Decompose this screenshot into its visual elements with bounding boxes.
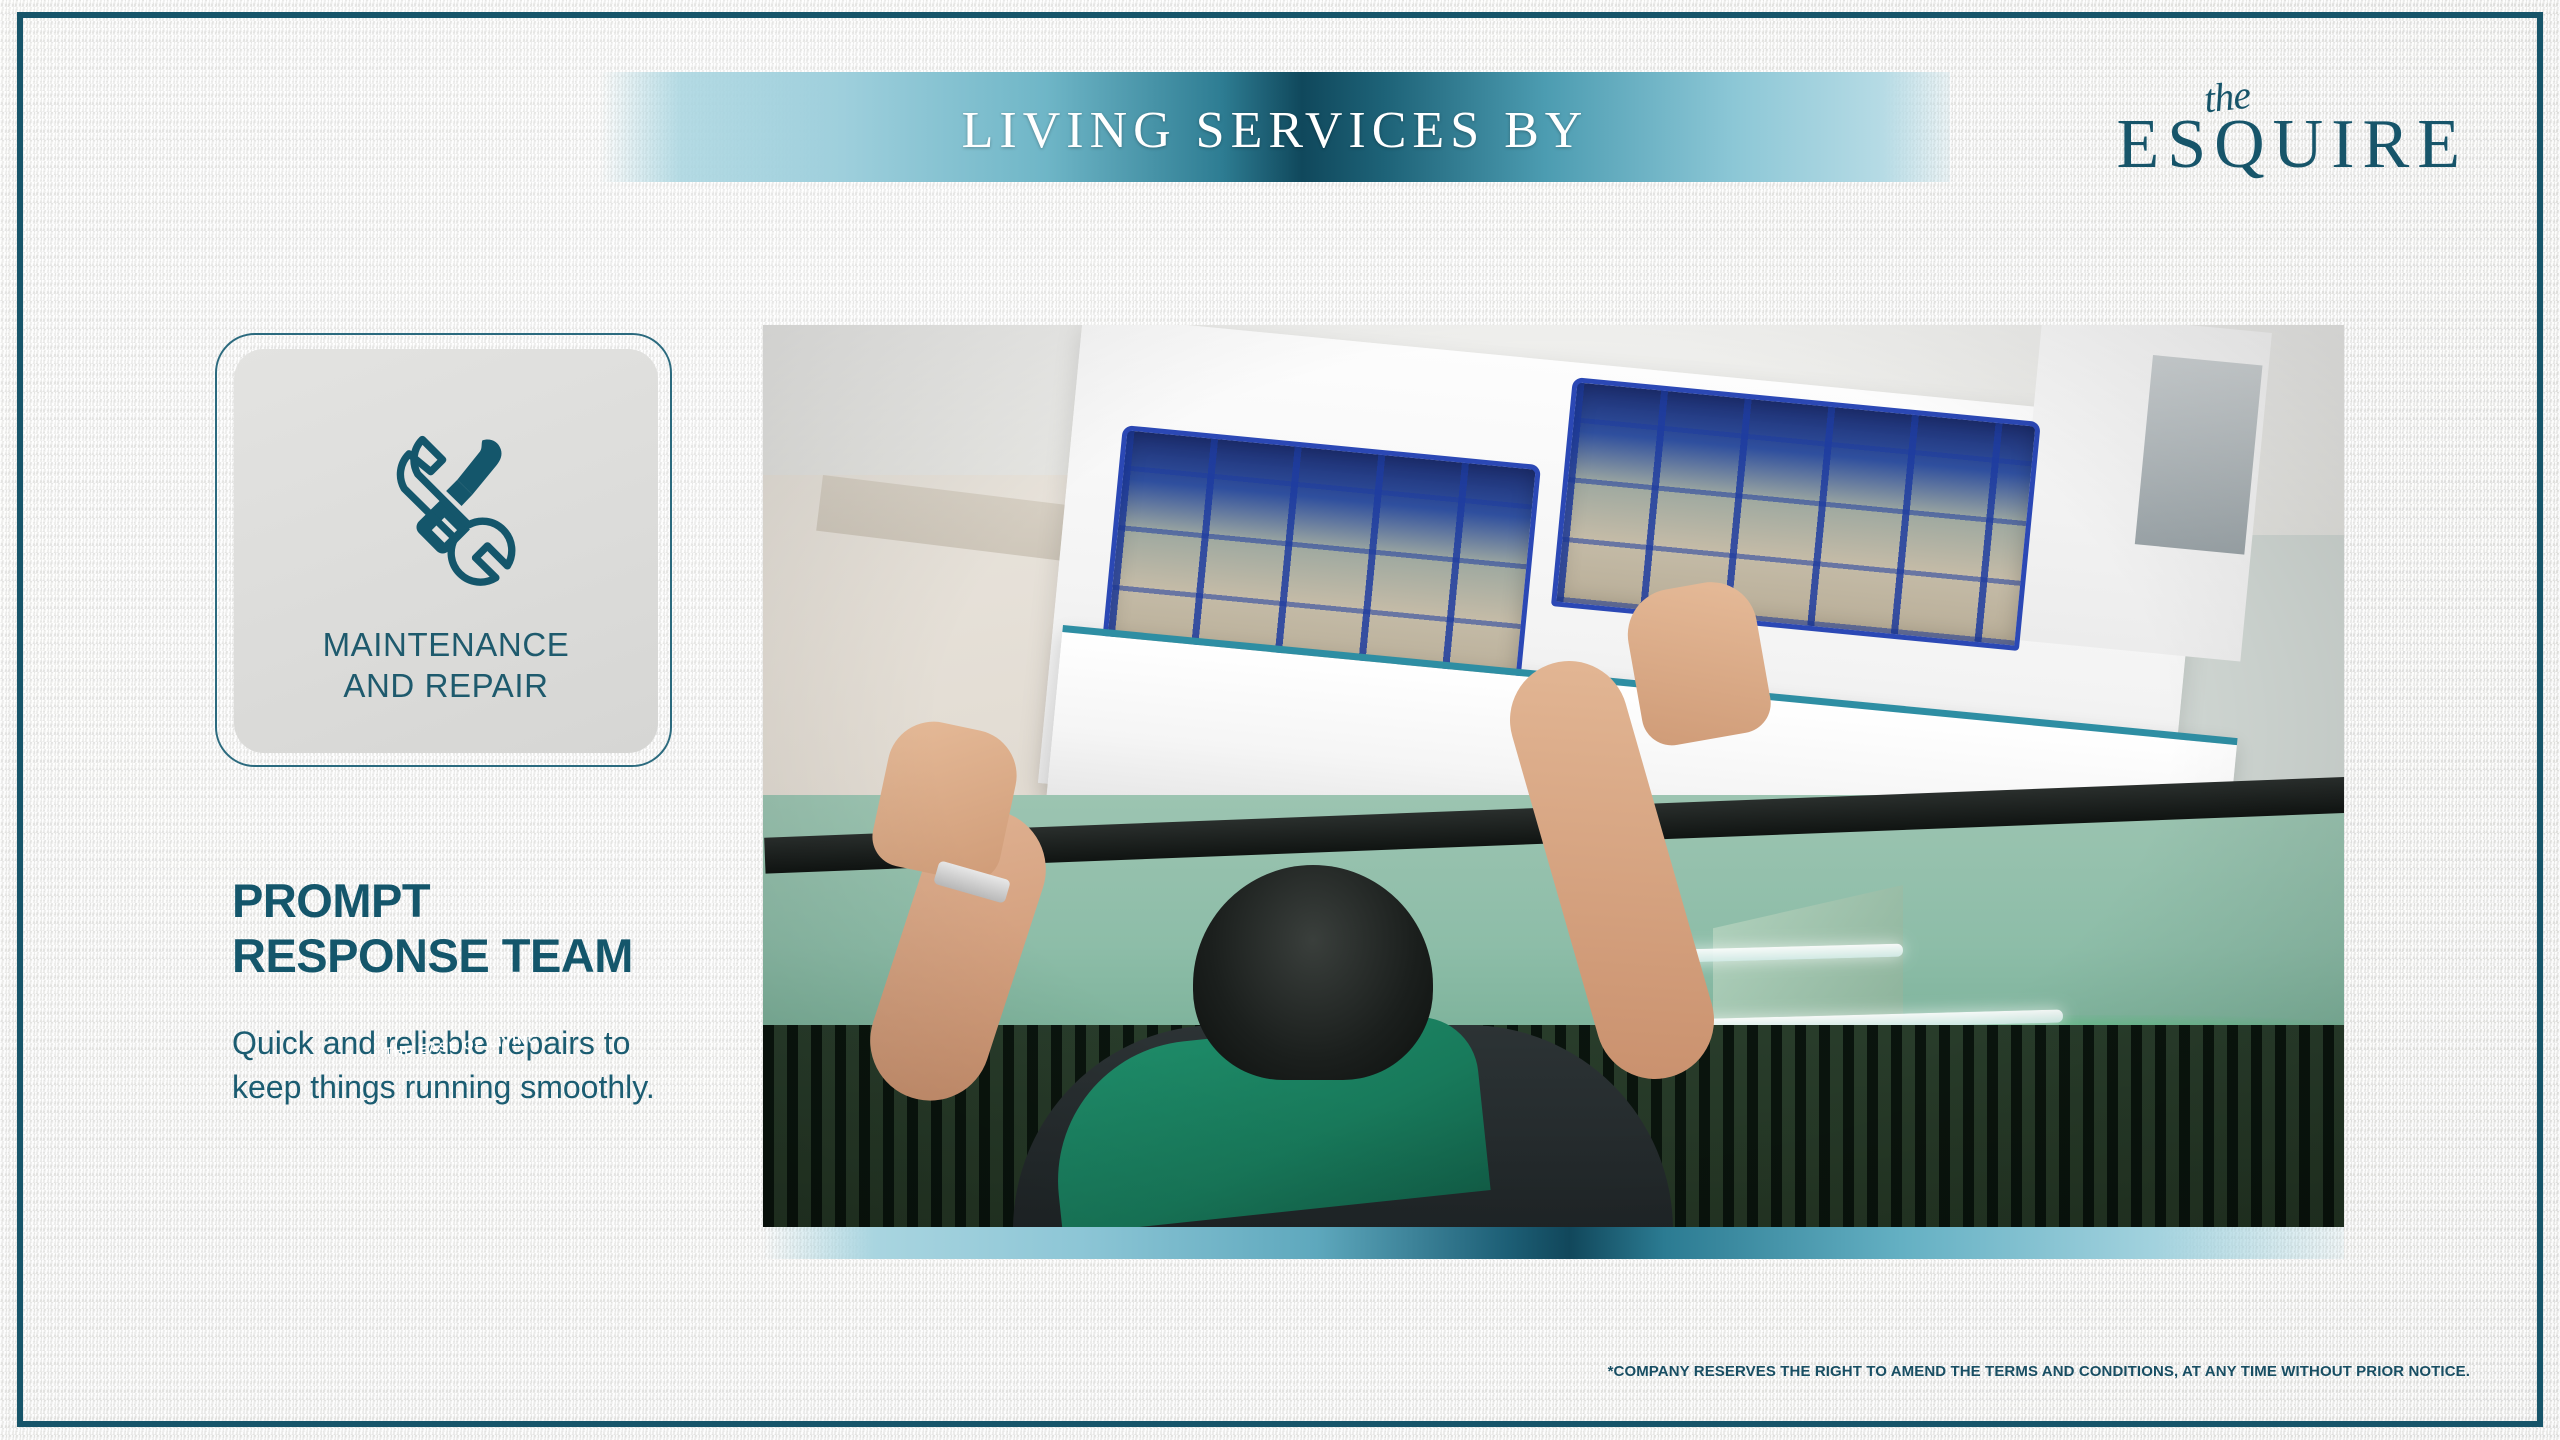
headline: PROMPT RESPONSE TEAM	[232, 874, 792, 983]
service-card-label-line1: MAINTENANCE	[323, 624, 570, 665]
service-photo	[763, 325, 2344, 1227]
headline-line1: PROMPT	[232, 874, 792, 929]
headline-line2: RESPONSE TEAM	[232, 929, 792, 984]
body-copy: Quick and reliable repairs to keep thing…	[232, 1021, 672, 1109]
bottom-accent-bar	[763, 1227, 2344, 1259]
footer-disclaimer: *COMPANY RESERVES THE RIGHT TO AMEND THE…	[1608, 1363, 2470, 1380]
service-card-label-line2: AND REPAIR	[323, 665, 570, 706]
logo-script-word: the	[2202, 76, 2252, 119]
photo-vignette	[763, 325, 2344, 1227]
brand-logo: the ESQUIRE	[2108, 78, 2468, 188]
wrench-screwdriver-icon	[359, 415, 534, 590]
logo-wordmark: ESQUIRE	[2108, 110, 2468, 180]
page-title: LIVING SERVICES BY	[600, 78, 1950, 182]
service-card[interactable]: MAINTENANCE AND REPAIR	[234, 349, 658, 753]
service-card-label: MAINTENANCE AND REPAIR	[323, 624, 570, 707]
